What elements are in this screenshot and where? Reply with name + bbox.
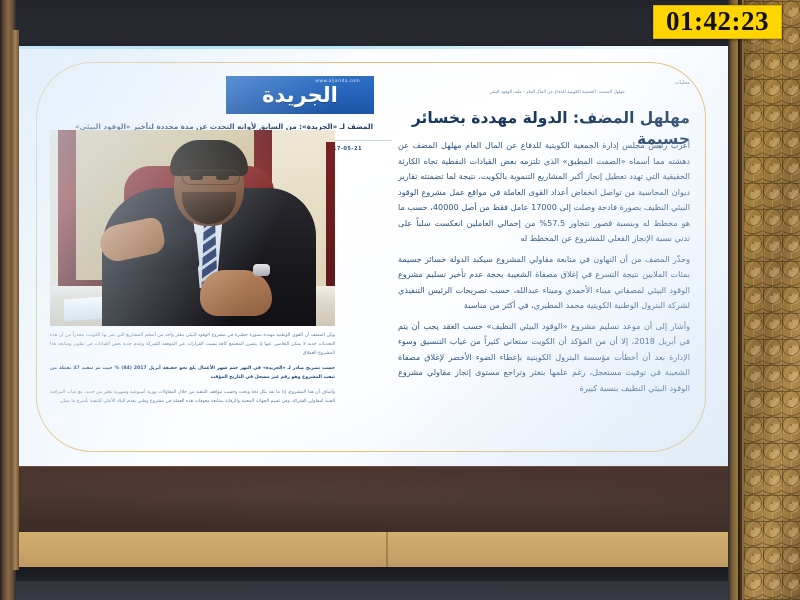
newspaper-brand: الجريدة	[262, 83, 338, 107]
article-body: أعرب رئيس مجلس إدارة الجمعية الكويتية لل…	[398, 138, 690, 402]
photo-person-eye-left	[190, 175, 203, 180]
masthead-website: www.aljarida.com	[315, 79, 360, 84]
wall-footer	[0, 567, 800, 600]
column-arabesque-pattern	[744, 0, 800, 600]
newspaper-page: www.aljarida.com الجريدة المضف لـ «الجري…	[48, 74, 692, 440]
countdown-timer: 01:42:23	[653, 5, 782, 39]
wall-trim-left-inner	[12, 30, 19, 570]
wall-panel-tan	[6, 532, 768, 567]
photo-person-eye-right	[216, 175, 229, 180]
caption-paragraph: وبيّن المضف أن القوى الوطنية مهددة بصورة…	[50, 332, 335, 359]
article-paragraph: وحذّر المضف من أن التهاون في متابعة مقاو…	[398, 252, 690, 314]
column-edge	[738, 0, 742, 600]
section-kicker: محليات	[675, 80, 690, 86]
article-paragraph: أعرب رئيس مجلس إدارة الجمعية الكويتية لل…	[398, 138, 690, 247]
photo-red-post	[326, 142, 335, 292]
wall-panel-dark	[6, 466, 768, 532]
footer-glass-strip	[0, 581, 800, 600]
projection-screen: www.aljarida.com الجريدة المضف لـ «الجري…	[14, 46, 730, 466]
photo-person-watch	[253, 264, 270, 276]
article-photo	[50, 130, 335, 326]
room-scene: 01:42:23 www.aljarida.com الجريدة المضف …	[0, 0, 800, 600]
article-byline: مهلهل المضف: الجمعية الكويتية للدفاع عن …	[432, 90, 682, 95]
panel-seam	[386, 532, 388, 567]
article-paragraph: وأشار إلى أن موعد تسليم مشروع «الوقود ال…	[398, 319, 690, 397]
photo-person-right-hand	[200, 270, 272, 316]
caption-paragraph-highlight: حسب تصريح صادر لـ «الجريدة» في النهر ختم…	[50, 365, 335, 383]
ornate-gold-column	[728, 0, 800, 600]
caption-paragraph: وأضاف أن هذا المشروع، إذا ما نفذ بكل دقة…	[50, 389, 335, 407]
newspaper-masthead: www.aljarida.com الجريدة	[226, 76, 374, 114]
photo-caption: وبيّن المضف أن القوى الوطنية مهددة بصورة…	[50, 332, 335, 413]
